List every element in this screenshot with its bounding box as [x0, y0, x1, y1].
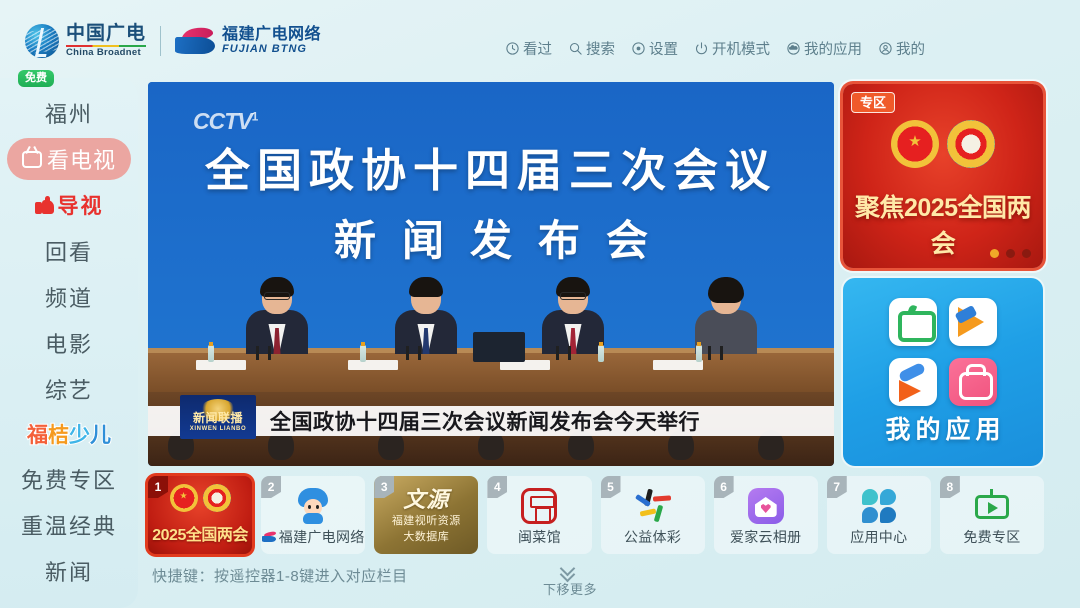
tile-min-cuisine[interactable]: 4 闽菜馆: [487, 476, 591, 554]
tile-free-zone[interactable]: 8 免费专区: [940, 476, 1044, 554]
tile-label: 爱家云相册: [730, 527, 802, 547]
microphone: [268, 346, 271, 360]
top-navigation: 看过 搜索 设置 开机模式: [505, 38, 925, 59]
my-apps-card[interactable]: 我的应用: [843, 278, 1043, 466]
sidebar-item-channels[interactable]: 频道: [7, 276, 131, 318]
video-title-line1: 全国政协十四届三次会议: [148, 134, 834, 199]
tile-label: 福建广电网络: [279, 527, 365, 547]
my-apps-label: 我的应用: [843, 410, 1043, 446]
nav-item-settings[interactable]: 设置: [631, 38, 678, 59]
tile-label: 2025全国两会: [148, 521, 252, 545]
free-tv-icon: [973, 489, 1011, 523]
sidebar-item-news[interactable]: 新闻: [7, 550, 131, 592]
nameplate: [348, 360, 398, 370]
national-emblem-icon: [170, 484, 198, 512]
carousel-dot[interactable]: [1006, 249, 1015, 258]
microphone: [256, 346, 259, 360]
sidebar-label-movies: 电影: [45, 327, 93, 359]
clover-icon: [861, 488, 897, 524]
fujian-btng-swoosh-icon: [262, 532, 276, 542]
panelist: [244, 280, 310, 354]
app-icon-grid: [889, 298, 997, 406]
sidebar-label-free-zone: 免费专区: [21, 463, 117, 495]
carousel-dot[interactable]: [1022, 249, 1031, 258]
nav-label-power-mode: 开机模式: [712, 38, 770, 59]
tile-sublabel-1: 福建视听资源: [374, 512, 478, 528]
china-broadnet-name-cn: 中国广电: [66, 24, 146, 43]
china-broadnet-logo: 中国广电 China Broadnet: [25, 24, 146, 58]
clock-icon: [505, 41, 520, 56]
mascot-icon: [296, 488, 330, 524]
sidebar-item-variety[interactable]: 综艺: [7, 368, 131, 410]
microphone: [708, 346, 711, 360]
tile-label-wrap: 福建广电网络: [262, 527, 365, 547]
sidebar-item-guide[interactable]: 导视: [7, 184, 131, 226]
fujian-btng-swoosh-icon: [175, 26, 215, 56]
channel-bug-number: 1: [252, 109, 258, 123]
sidebar-item-classics[interactable]: 重温经典: [7, 504, 131, 546]
fujian-btng-name-en: FUJIAN BTNG: [222, 44, 321, 56]
cloud-apps-icon: [786, 41, 801, 56]
nav-item-mine[interactable]: 我的: [878, 38, 925, 59]
video-title-line2: 新闻发布会: [148, 207, 834, 268]
tile-app-center[interactable]: 7 应用中心: [827, 476, 931, 554]
panelist: [540, 280, 606, 354]
nav-label-settings: 设置: [649, 38, 678, 59]
tv-icon: [22, 151, 42, 168]
sidebar-label-variety: 综艺: [45, 373, 93, 405]
microphone: [720, 346, 723, 360]
water-bottle: [696, 345, 702, 362]
fu-seal-icon: [521, 488, 557, 524]
sidebar-label-guide: 导视: [58, 190, 104, 220]
tile-label: 免费专区: [963, 527, 1020, 547]
fujian-btng-logo: 福建广电网络 FUJIAN BTNG: [175, 26, 321, 56]
nav-label-search: 搜索: [586, 38, 615, 59]
bilibili-icon[interactable]: [949, 358, 997, 406]
carousel-dot[interactable]: [990, 249, 999, 258]
water-bottle: [598, 345, 604, 362]
sidebar-item-watch-tv[interactable]: 看电视: [7, 138, 131, 180]
migu-video-icon[interactable]: [889, 358, 937, 406]
nav-item-power-mode[interactable]: 开机模式: [694, 38, 770, 59]
microphone: [418, 346, 421, 360]
tile-sports-lottery[interactable]: 5 公益体彩: [601, 476, 705, 554]
microphone: [406, 346, 409, 360]
tile-wenyuan[interactable]: 3 文源 福建视听资源 大数据库: [374, 476, 478, 554]
water-bottle: [360, 345, 366, 362]
news-ticker: 新闻联播 XINWEN LIANBO 全国政协十四届三次会议新闻发布会今天举行: [148, 406, 834, 436]
tile-label: 公益体彩: [624, 527, 681, 547]
tile-sublabel-2: 大数据库: [374, 528, 478, 544]
sidebar-item-movies[interactable]: 电影: [7, 322, 131, 364]
iqiyi-icon[interactable]: [889, 298, 937, 346]
tile-number-badge: 2: [261, 476, 281, 498]
cppcc-emblem-icon: [203, 484, 231, 512]
tile-cloud-album[interactable]: 6 爱家云相册: [714, 476, 818, 554]
fujian-btng-name-cn: 福建广电网络: [222, 27, 321, 44]
ticker-logo-label-en: XINWEN LIANBO: [190, 426, 246, 432]
lottery-sticks-icon: [634, 488, 672, 524]
microphone: [556, 346, 559, 360]
nav-label-my-apps: 我的应用: [804, 38, 862, 59]
nameplate: [196, 360, 246, 370]
sidebar-label-classics: 重温经典: [21, 509, 117, 541]
tile-number-badge: 5: [601, 476, 621, 498]
nav-item-search[interactable]: 搜索: [568, 38, 615, 59]
sidebar-item-lookback[interactable]: 回看: [7, 230, 131, 272]
shortcut-hint: 快捷键：按遥控器1-8键进入对应栏目: [152, 565, 408, 586]
tile-number-badge: 8: [940, 476, 960, 498]
water-bottle: [208, 345, 214, 362]
sidebar-label-lookback: 回看: [45, 235, 93, 267]
sidebar-label-news: 新闻: [45, 555, 93, 587]
promo-card-two-sessions[interactable]: 专区 聚焦2025全国两会: [843, 84, 1043, 268]
china-broadnet-name-en: China Broadnet: [66, 48, 146, 58]
sidebar-item-fuzhou[interactable]: 福州: [7, 92, 131, 134]
gear-icon: [631, 41, 646, 56]
ticker-logo-label-cn: 新闻联播: [193, 412, 243, 424]
sidebar-item-free-zone[interactable]: 免费专区: [7, 458, 131, 500]
nav-item-history[interactable]: 看过: [505, 38, 552, 59]
tile-number-badge: 4: [487, 476, 507, 498]
nameplate: [653, 360, 703, 370]
china-broadnet-globe-icon: [25, 24, 59, 58]
tile-fujian-btng[interactable]: 2 福建广电网络: [261, 476, 365, 554]
double-chevron-down-icon: [558, 564, 582, 578]
sidebar-label-watch-tv: 看电视: [47, 143, 116, 175]
promo-zone-badge: 专区: [851, 92, 895, 113]
scroll-more-button[interactable]: 下移更多: [543, 564, 597, 598]
tile-two-sessions[interactable]: 1 2025全国两会: [148, 476, 252, 554]
sidebar-label-channels: 频道: [45, 281, 93, 313]
home-heart-icon: [748, 488, 784, 524]
xinwen-lianbo-logo: 新闻联播 XINWEN LIANBO: [180, 395, 256, 439]
channel-bug: CCTV1: [193, 108, 257, 135]
thumbs-up-icon: [35, 196, 54, 214]
app-header: 中国广电 China Broadnet 福建广电网络 FUJIAN BTNG 看…: [0, 0, 1080, 76]
user-icon: [878, 41, 893, 56]
panelist: [693, 280, 759, 354]
cppcc-emblem-icon: [947, 120, 995, 168]
search-icon: [568, 41, 583, 56]
sidebar-item-kids[interactable]: 福桔少儿: [7, 414, 131, 454]
tile-number-badge: 6: [714, 476, 734, 498]
carousel-dots[interactable]: [990, 249, 1031, 258]
tile-label: 闽菜馆: [518, 527, 561, 547]
tile-label: 应用中心: [850, 527, 907, 547]
panelist: [393, 280, 459, 354]
sidebar: 免费 福州 看电视 导视 回看 频道 电影 综艺 福桔少儿 免费专区 重温经典 …: [0, 78, 138, 608]
power-icon: [694, 41, 709, 56]
tile-number-badge: 7: [827, 476, 847, 498]
shortcut-tile-row: 1 2025全国两会 2 福建广电网络 3 文源 福建视听资源 大数据库 4 闽…: [148, 476, 1044, 554]
microphone: [568, 346, 571, 360]
nav-label-mine: 我的: [896, 38, 925, 59]
channel-bug-text: CCTV: [193, 108, 252, 134]
ticker-headline: 全国政协十四届三次会议新闻发布会今天举行: [270, 406, 700, 436]
nav-label-history: 看过: [523, 38, 552, 59]
sidebar-label-fuzhou: 福州: [45, 97, 93, 129]
brand-logos: 中国广电 China Broadnet 福建广电网络 FUJIAN BTNG: [25, 24, 321, 58]
sidebar-free-badge: 免费: [18, 70, 54, 87]
laptop: [473, 332, 525, 362]
nav-item-my-apps[interactable]: 我的应用: [786, 38, 862, 59]
video-player[interactable]: CCTV1 全国政协十四届三次会议 新闻发布会: [148, 82, 834, 466]
national-emblem-icon: [891, 120, 939, 168]
promo-emblems: [843, 120, 1043, 168]
logo-divider: [160, 26, 161, 56]
scroll-more-label: 下移更多: [543, 579, 597, 598]
tencent-video-icon[interactable]: [949, 298, 997, 346]
